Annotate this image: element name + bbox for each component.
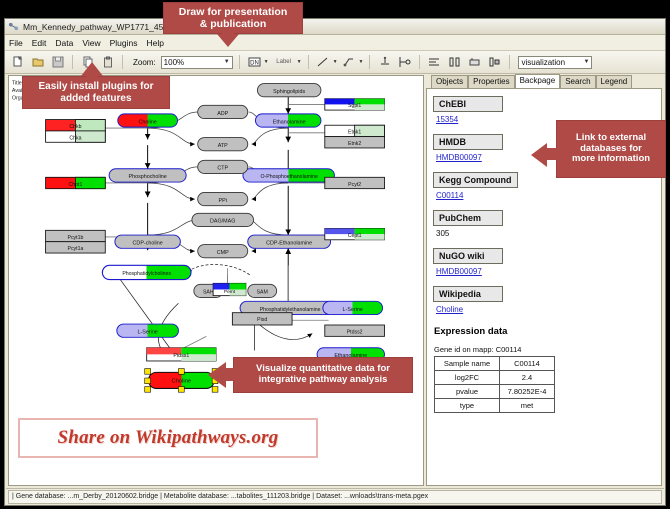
db-link-hmdb[interactable]: HMDB00097: [436, 153, 482, 162]
metabolite-node-l-serine-right[interactable]: L-Serine: [323, 301, 383, 314]
zoom-value: 100%: [164, 58, 184, 67]
gene-node-pisd[interactable]: Pisd: [232, 313, 292, 325]
svg-text:O-Phosphoethanolamine: O-Phosphoethanolamine: [260, 174, 317, 180]
db-name-hmdb: HMDB: [433, 134, 503, 150]
tab-properties[interactable]: Properties: [468, 75, 514, 88]
chevron-down-icon[interactable]: ▼: [333, 59, 338, 65]
screenshot-root: Mm_Kennedy_pathway_WP1771_45176.gpml Fil…: [0, 0, 670, 509]
svg-text:DN: DN: [250, 61, 259, 67]
svg-text:Pemt: Pemt: [224, 289, 236, 295]
db-name-nugo: NuGO wiki: [433, 248, 503, 264]
svg-text:ATP: ATP: [218, 143, 228, 149]
menu-view[interactable]: View: [82, 38, 100, 48]
svg-text:CDP-Ethanolamine: CDP-Ethanolamine: [266, 241, 312, 247]
label-text: Label: [276, 59, 291, 65]
db-name-kegg: Kegg Compound: [433, 172, 518, 188]
toolbar[interactable]: Zoom: 100% ▼ DN ▼ Label ▼: [5, 51, 665, 74]
callout-visualize-line2: integrative pathway analysis: [259, 375, 388, 386]
align-icon[interactable]: [426, 54, 443, 71]
metabolite-node-choline-selected[interactable]: Choline: [145, 369, 218, 393]
menu-help[interactable]: Help: [147, 38, 164, 48]
metabolite-node-cdp-choline[interactable]: CDP-choline: [115, 235, 180, 248]
db-name-pubchem: PubChem: [433, 210, 503, 226]
menubar[interactable]: File Edit Data View Plugins Help: [5, 35, 665, 51]
table-row: pvalue 7.80252E-4: [435, 385, 555, 399]
db-entry-wikipedia: Wikipedia Choline: [433, 284, 655, 322]
callout-visualize-arrow-icon: [208, 362, 226, 388]
line-icon[interactable]: [315, 54, 332, 71]
svg-text:Chpt1: Chpt1: [69, 182, 83, 188]
visualization-combo[interactable]: visualization ▼: [518, 56, 592, 69]
svg-text:Ethanolamine: Ethanolamine: [273, 119, 306, 125]
db-name-wikipedia: Wikipedia: [433, 286, 503, 302]
metabolite-node-cmp[interactable]: CMP: [198, 245, 248, 258]
svg-text:L-Serine: L-Serine: [343, 307, 363, 313]
status-text: | Gene database: ...m_Derby_20120602.bri…: [8, 490, 662, 504]
callout-draw: Draw for presentation & publication: [163, 2, 303, 34]
menu-data[interactable]: Data: [55, 38, 73, 48]
status-bar: | Gene database: ...m_Derby_20120602.bri…: [6, 488, 664, 504]
db-link-kegg[interactable]: C00114: [436, 191, 463, 200]
svg-text:ADP: ADP: [217, 111, 228, 117]
svg-text:Chka: Chka: [69, 135, 81, 141]
callout-visualize: Visualize quantitative data for integrat…: [233, 357, 413, 393]
svg-text:Chkb: Chkb: [69, 124, 81, 130]
svg-text:Etnk2: Etnk2: [348, 141, 361, 147]
svg-text:PPi: PPi: [219, 198, 227, 204]
svg-text:Pcyt1a: Pcyt1a: [68, 246, 84, 252]
expression-table: Sample name C00114 log2FC 2.4 pvalue 7.8…: [434, 356, 555, 413]
db-link-chebi[interactable]: 15354: [436, 115, 458, 124]
distribute-icon[interactable]: [446, 54, 463, 71]
tab-legend[interactable]: Legend: [596, 75, 633, 88]
toolbar-separator-4: [308, 55, 309, 69]
expr-val-sample: C00114: [500, 357, 555, 371]
expr-val-log2fc: 2.4: [500, 371, 555, 385]
callout-plugins-arrow-icon: [81, 62, 103, 76]
gene-node-ptdss1[interactable]: Ptdss1: [147, 348, 216, 361]
save-file-icon[interactable]: [49, 54, 66, 71]
metabolite-node-o-phosphoethanolamine[interactable]: O-Phosphoethanolamine: [243, 169, 334, 182]
table-row: log2FC 2.4: [435, 371, 555, 385]
svg-text:Phosphocholine: Phosphocholine: [129, 174, 167, 180]
svg-text:SAM: SAM: [257, 290, 268, 296]
callout-draw-line1: Draw for presentation: [179, 6, 288, 18]
chevron-down-icon: ▼: [584, 59, 590, 65]
gene-node-chkb[interactable]: Chkb: [46, 120, 106, 131]
callout-draw-line2: & publication: [179, 18, 288, 30]
label-icon[interactable]: Label: [272, 54, 296, 71]
gene-node-sgpl1[interactable]: Sgpl1: [325, 99, 385, 110]
chevron-down-icon[interactable]: ▼: [264, 59, 269, 65]
metabolite-node-cdp-ethanolamine[interactable]: CDP-Ethanolamine: [248, 235, 331, 248]
callout-plugins-line2: added features: [38, 93, 153, 105]
menu-plugins[interactable]: Plugins: [110, 38, 138, 48]
zoom-label: Zoom:: [133, 58, 156, 67]
svg-text:Cept1: Cept1: [348, 233, 362, 239]
callout-plugins-line1: Easily install plugins for: [38, 81, 153, 93]
gene-node-pcyt2[interactable]: Pcyt2: [325, 177, 385, 188]
svg-text:L-Serine: L-Serine: [137, 330, 157, 336]
svg-text:CTP: CTP: [217, 166, 228, 172]
svg-text:Pcyt1b: Pcyt1b: [68, 235, 84, 241]
side-panel-tabs[interactable]: Objects Properties Backpage Search Legen…: [426, 75, 662, 88]
callout-plugins: Easily install plugins for added feature…: [22, 76, 170, 109]
table-row: type met: [435, 399, 555, 413]
toolbar-separator-7: [509, 55, 510, 69]
expr-key-log2fc: log2FC: [435, 371, 500, 385]
metabolite-node-atp[interactable]: ATP: [198, 138, 248, 151]
db-link-nugo[interactable]: HMDB00097: [436, 267, 482, 276]
table-row: Sample name C00114: [435, 357, 555, 371]
gene-node-etnk1[interactable]: Etnk1: [325, 125, 385, 136]
interaction-tool[interactable]: ▼: [341, 54, 364, 71]
svg-text:SAH: SAH: [203, 290, 214, 296]
svg-text:CDP-choline: CDP-choline: [133, 241, 163, 247]
db-entry-pubchem: PubChem 305: [433, 208, 655, 246]
metabolite-node-phosphatidylcholines[interactable]: Phosphatidylcholines: [102, 265, 191, 279]
db-value-pubchem: 305: [436, 229, 449, 238]
svg-text:Sgpl1: Sgpl1: [348, 103, 361, 109]
expr-key-sample: Sample name: [435, 357, 500, 371]
gene-node-ptdss2[interactable]: Ptdss2: [325, 325, 385, 336]
lock-icon[interactable]: [486, 54, 503, 71]
expr-key-pvalue: pvalue: [435, 385, 500, 399]
metabolite-node-phosphocholine[interactable]: Phosphocholine: [109, 169, 186, 182]
expression-data-heading: Expression data: [434, 326, 655, 337]
db-entry-nugo: NuGO wiki HMDB00097: [433, 246, 655, 284]
svg-text:Ptdss1: Ptdss1: [173, 353, 189, 359]
chevron-down-icon: ▼: [224, 59, 230, 65]
db-name-chebi: ChEBI: [433, 96, 503, 112]
interaction-icon[interactable]: [341, 54, 358, 71]
metabolite-node-adp[interactable]: ADP: [198, 105, 248, 118]
callout-link-arrow-icon: [531, 143, 547, 167]
metabolite-node-ctp[interactable]: CTP: [198, 160, 248, 173]
anchor-icon[interactable]: [376, 54, 393, 71]
svg-text:Phosphatidylethanolamine: Phosphatidylethanolamine: [260, 307, 321, 313]
metabolite-node-ethanolamine-1[interactable]: Ethanolamine: [255, 114, 320, 127]
chevron-down-icon[interactable]: ▼: [297, 59, 302, 65]
expr-val-pvalue: 7.80252E-4: [500, 385, 555, 399]
gene-id-line: Gene id on mapp: C00114: [434, 345, 655, 354]
menu-file[interactable]: File: [9, 38, 23, 48]
metabolite-node-choline-top[interactable]: Choline: [118, 114, 178, 127]
tab-backpage[interactable]: Backpage: [515, 74, 561, 88]
toolbar-separator-5: [369, 55, 370, 69]
new-file-icon[interactable]: [9, 54, 26, 71]
expr-val-type: met: [500, 399, 555, 413]
svg-text:Sphingolipids: Sphingolipids: [273, 89, 305, 95]
open-file-icon[interactable]: [29, 54, 46, 71]
gene-node-etnk2[interactable]: Etnk2: [325, 137, 385, 148]
callout-link-line3: more information: [572, 154, 650, 165]
gene-node-cept1[interactable]: Cept1: [325, 228, 385, 239]
svg-text:Pisd: Pisd: [257, 317, 267, 323]
callout-draw-arrow-icon: [217, 34, 239, 47]
visualization-value: visualization: [521, 58, 565, 67]
chevron-down-icon[interactable]: ▼: [359, 59, 364, 65]
gene-node-pcyt1a[interactable]: Pcyt1a: [46, 242, 106, 253]
tab-objects[interactable]: Objects: [431, 75, 468, 88]
datanode-tool[interactable]: DN ▼: [246, 54, 269, 71]
callout-link: Link to external databases for more info…: [556, 120, 666, 178]
datanode-icon[interactable]: DN: [246, 54, 263, 71]
toolbar-separator-6: [419, 55, 420, 69]
metabolite-node-ppi[interactable]: PPi: [198, 192, 248, 205]
metabolite-node-sam[interactable]: SAM: [248, 284, 277, 297]
db-link-wikipedia[interactable]: Choline: [436, 305, 463, 314]
pathvisio-icon: [8, 21, 19, 32]
tab-search[interactable]: Search: [560, 75, 595, 88]
expr-key-type: type: [435, 399, 500, 413]
metabolite-node-dagmag[interactable]: DAG/MAG: [192, 213, 254, 226]
metabolite-node-sphingolipids[interactable]: Sphingolipids: [257, 84, 321, 97]
label-tool[interactable]: Label ▼: [272, 54, 302, 71]
gene-node-pcyt1b[interactable]: Pcyt1b: [46, 230, 106, 241]
toolbar-separator-1: [72, 55, 73, 69]
callout-share: Share on Wikipathways.org: [18, 418, 318, 458]
shape-icon[interactable]: [396, 54, 413, 71]
line-tool[interactable]: ▼: [315, 54, 338, 71]
svg-text:Choline: Choline: [139, 119, 157, 125]
svg-text:Pcyt2: Pcyt2: [348, 182, 361, 188]
svg-text:Choline: Choline: [172, 379, 192, 385]
group-icon[interactable]: [466, 54, 483, 71]
gene-node-pemt[interactable]: Pemt: [213, 283, 246, 295]
metabolite-node-l-serine-left[interactable]: L-Serine: [117, 324, 179, 337]
svg-text:Etnk1: Etnk1: [348, 130, 361, 136]
window-titlebar: Mm_Kennedy_pathway_WP1771_45176.gpml: [5, 19, 665, 35]
callout-share-text: Share on Wikipathways.org: [58, 427, 279, 449]
toolbar-separator-3: [239, 55, 240, 69]
toolbar-separator-2: [122, 55, 123, 69]
menu-edit[interactable]: Edit: [32, 38, 47, 48]
gene-node-chka[interactable]: Chka: [46, 131, 106, 142]
callout-link-line1: Link to external: [576, 133, 646, 144]
svg-text:Ptdss2: Ptdss2: [347, 330, 363, 336]
svg-text:DAG/MAG: DAG/MAG: [210, 219, 235, 225]
svg-text:Phosphatidylcholines: Phosphatidylcholines: [122, 271, 171, 277]
svg-text:CMP: CMP: [217, 250, 229, 256]
gene-node-chpt1-left[interactable]: Chpt1: [46, 177, 106, 188]
zoom-combo[interactable]: 100% ▼: [161, 56, 233, 69]
